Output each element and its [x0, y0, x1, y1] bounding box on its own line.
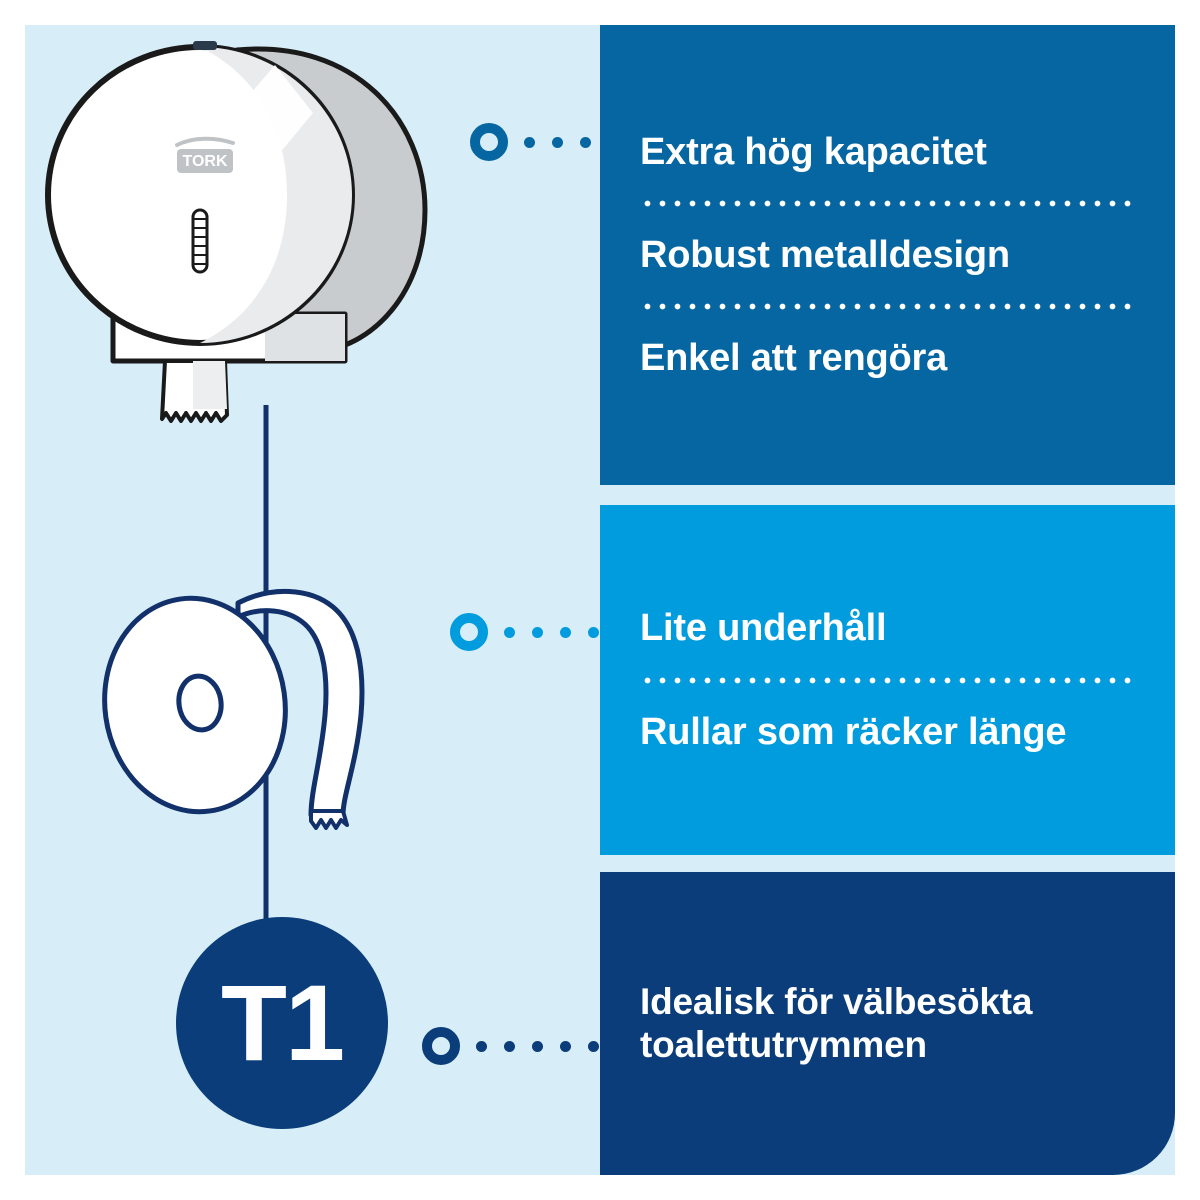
connector-dot [504, 1041, 515, 1052]
connector-dot [504, 627, 515, 638]
benefit-panel-capacity: Extra hög kapacitet Robust metalldesign … [600, 25, 1175, 485]
benefit-text-robust-metal-design: Robust metalldesign [640, 233, 1135, 277]
connector-dot [532, 1041, 543, 1052]
panel-divider [640, 200, 1135, 207]
connector-ring-icon [450, 613, 488, 651]
benefit-text-extra-capacity: Extra hög kapacitet [640, 130, 1135, 174]
connector-dot [524, 137, 535, 148]
connector-ring-icon [422, 1027, 460, 1065]
dispenser-top-latch [193, 41, 217, 50]
benefit-text-ideal-for-busy-washrooms: Idealisk för välbesökta toalettutrymmen [640, 981, 1135, 1067]
connector-dot [532, 627, 543, 638]
benefit-text-long-lasting-rolls: Rullar som räcker länge [640, 710, 1135, 754]
connector-dot [476, 1041, 487, 1052]
roll-torn-edge [311, 811, 347, 828]
connector-dot [588, 1041, 599, 1052]
dispenser-group: TORK [48, 41, 425, 421]
connector-dot [580, 137, 591, 148]
connector-ring-icon [470, 123, 508, 161]
benefit-text-low-maintenance: Lite underhåll [640, 606, 1135, 650]
t1-badge-label: T1 [221, 969, 343, 1077]
t1-system-badge: T1 [176, 917, 388, 1129]
toilet-roll-group [91, 587, 362, 828]
connector-dot [552, 137, 563, 148]
panel-divider [640, 303, 1135, 310]
benefit-panel-traffic: Idealisk för välbesökta toalettutrymmen [600, 872, 1175, 1175]
benefit-panel-maintenance: Lite underhåll Rullar som räcker länge [600, 505, 1175, 855]
benefit-text-easy-to-clean: Enkel att rengöra [640, 336, 1135, 380]
panel-divider [640, 677, 1135, 684]
connector-dot [560, 627, 571, 638]
connector-dot [588, 627, 599, 638]
dispenser-paper-tail-shade [193, 361, 227, 409]
tork-t1-dispenser-infographic: TORK T1 [0, 0, 1200, 1200]
connector-dot [560, 1041, 571, 1052]
tork-logo-text: TORK [182, 153, 227, 170]
